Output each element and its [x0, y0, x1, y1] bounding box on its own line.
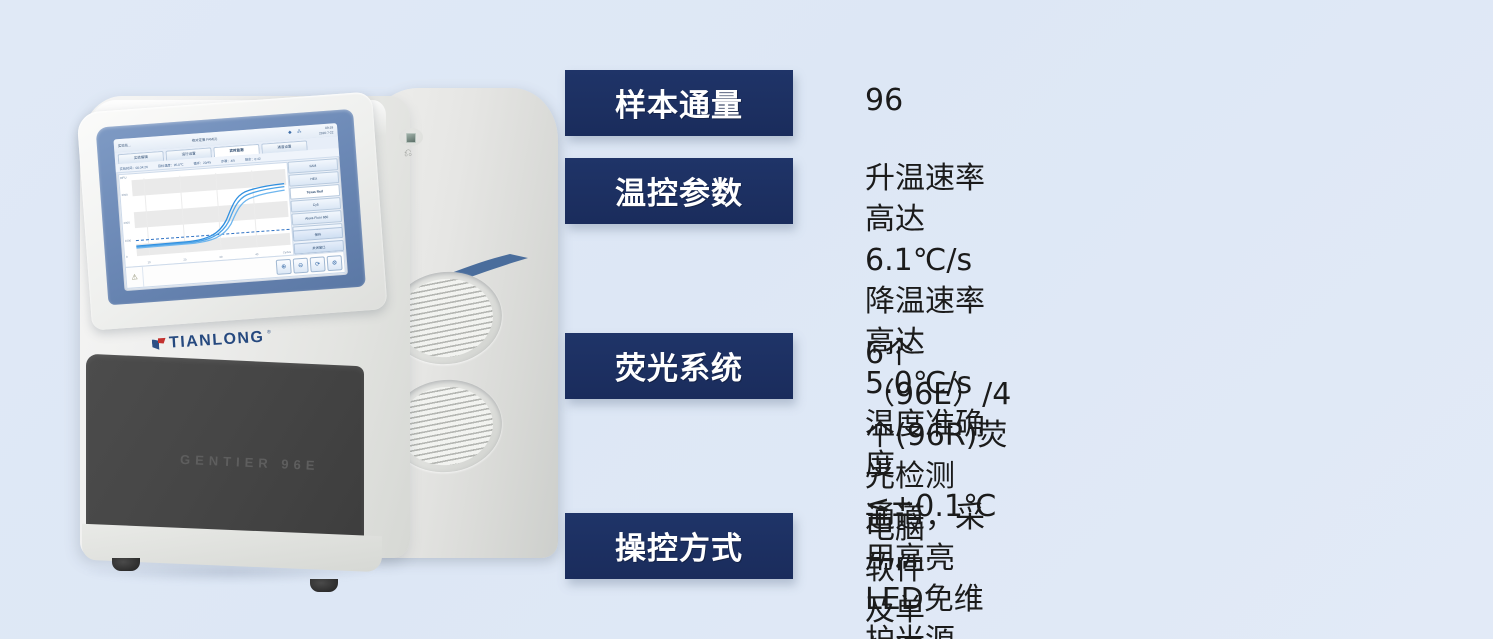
clock-date: 2016-7-22 — [319, 130, 334, 135]
chart-y-tick: 3000 — [121, 193, 128, 197]
screen-action-buttons[interactable]: 保存 关闭窗口 — [293, 226, 345, 254]
chart-x-tick: 10 — [147, 260, 150, 264]
touchscreen-bezel: 实验名... 绝对定量 FAM(2) ◆ ⁂ 09:18 2016-7-22 实… — [76, 91, 387, 330]
settings-icon[interactable]: ⚙ — [327, 255, 343, 271]
promo-page: ⎌ 实验名... 绝对定量 FAM(2) ◆ ⁂ 09:18 2016-7-22 — [0, 0, 1493, 639]
spec-label-temperature-control: 温控参数 — [565, 158, 793, 224]
spec-value-control-method: 电脑软件及单机运行皆可，脱离 电脑可至少存储1000次数据 — [865, 508, 941, 639]
zoom-in-icon[interactable]: ⊕ — [276, 258, 292, 274]
spec-list: 样本通量 96 温控参数 升温速率高达6.1℃/s 降温速率高达5.0℃/s 温… — [565, 0, 1493, 639]
spec-label-fluorescence-system: 荧光系统 — [565, 333, 793, 399]
amplification-chart[interactable]: RFU — [118, 162, 294, 268]
warning-triangle-icon: ⚠ — [126, 267, 144, 288]
vent-slats — [395, 274, 498, 362]
chart-y-tick: 0 — [126, 255, 128, 259]
spec-label-sample-throughput: 样本通量 — [565, 70, 793, 136]
chart-x-axis-label: Cycles — [283, 250, 292, 255]
usb-icon: ⎌ — [403, 148, 412, 160]
chart-y-tick: 1000 — [125, 238, 132, 242]
qpcr-instrument: ⎌ 实验名... 绝对定量 FAM(2) ◆ ⁂ 09:18 2016-7-22 — [60, 60, 530, 580]
port-panel: ⎌ — [397, 128, 427, 174]
status-target-temp: 目标温度：95.0℃ — [158, 161, 184, 168]
status-step: 步骤：4/5 — [221, 157, 235, 163]
experiment-mode-label: 绝对定量 FAM(2) — [192, 136, 218, 143]
vent-slats — [395, 382, 498, 470]
status-cycle: 循环：20/45 — [193, 159, 211, 165]
chart-x-tick: 20 — [183, 257, 186, 261]
save-button[interactable]: 保存 — [293, 226, 344, 241]
instrument-foot — [112, 558, 140, 571]
status-remaining: 剩余：0:42 — [245, 155, 261, 161]
touchscreen-display[interactable]: 实验名... 绝对定量 FAM(2) ◆ ⁂ 09:18 2016-7-22 实… — [113, 123, 348, 291]
chart-x-tick: 40 — [255, 252, 258, 256]
tianlong-mark-icon — [152, 337, 167, 351]
screen-toolbar[interactable]: ⊕ ⊖ ⟳ ⚙ — [276, 255, 343, 275]
status-icons: ◆ ⁂ — [288, 129, 304, 136]
touchscreen-frame: 实验名... 绝对定量 FAM(2) ◆ ⁂ 09:18 2016-7-22 实… — [96, 109, 366, 305]
status-elapsed: 实验时间：00:34:26 — [119, 164, 148, 171]
usb-port[interactable] — [406, 133, 416, 143]
clock-display: 09:18 2016-7-22 — [318, 125, 333, 136]
instrument-foot — [310, 579, 338, 592]
chart-y-tick: 2000 — [123, 221, 130, 225]
spec-label-control-method: 操控方式 — [565, 513, 793, 579]
zoom-out-icon[interactable]: ⊖ — [293, 257, 309, 273]
experiment-name-label: 实验名... — [118, 142, 131, 148]
refresh-icon[interactable]: ⟳ — [310, 256, 326, 272]
registered-mark: ® — [267, 329, 271, 335]
spec-value-sample-throughput: 96 — [865, 80, 903, 121]
clock-time: 09:18 — [325, 125, 333, 130]
chart-x-tick: 30 — [219, 255, 222, 259]
chart-curves — [119, 163, 293, 267]
product-image: ⎌ 实验名... 绝对定量 FAM(2) ◆ ⁂ 09:18 2016-7-22 — [40, 40, 560, 600]
